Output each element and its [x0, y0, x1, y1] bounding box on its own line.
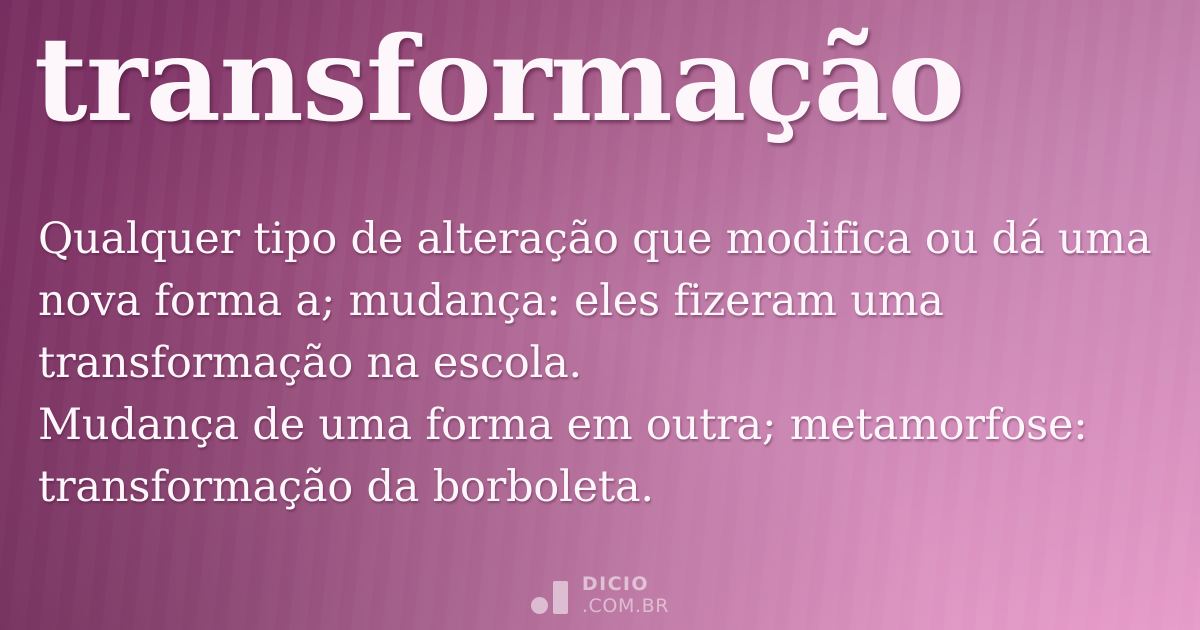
definition-item: Mudança de uma forma em outra; metamorfo…: [38, 394, 1160, 518]
logo-tld-text: .COM.BR: [582, 597, 669, 616]
definition-list: Qualquer tipo de alteração que modifica …: [38, 208, 1160, 518]
dicio-logo[interactable]: DICIO .COM.BR: [0, 575, 1200, 616]
logo-wordmark: DICIO .COM.BR: [582, 575, 669, 616]
dictionary-share-card: transformação Qualquer tipo de alteração…: [0, 0, 1200, 630]
definition-item: Qualquer tipo de alteração que modifica …: [38, 208, 1160, 394]
card-content: transformação Qualquer tipo de alteração…: [0, 0, 1200, 630]
page-title: transformação: [34, 18, 963, 143]
logo-circle-icon: [531, 597, 548, 614]
logo-bar-icon: [553, 581, 568, 614]
logo-mark-icon: [531, 577, 571, 615]
logo-name-text: DICIO: [582, 575, 649, 594]
